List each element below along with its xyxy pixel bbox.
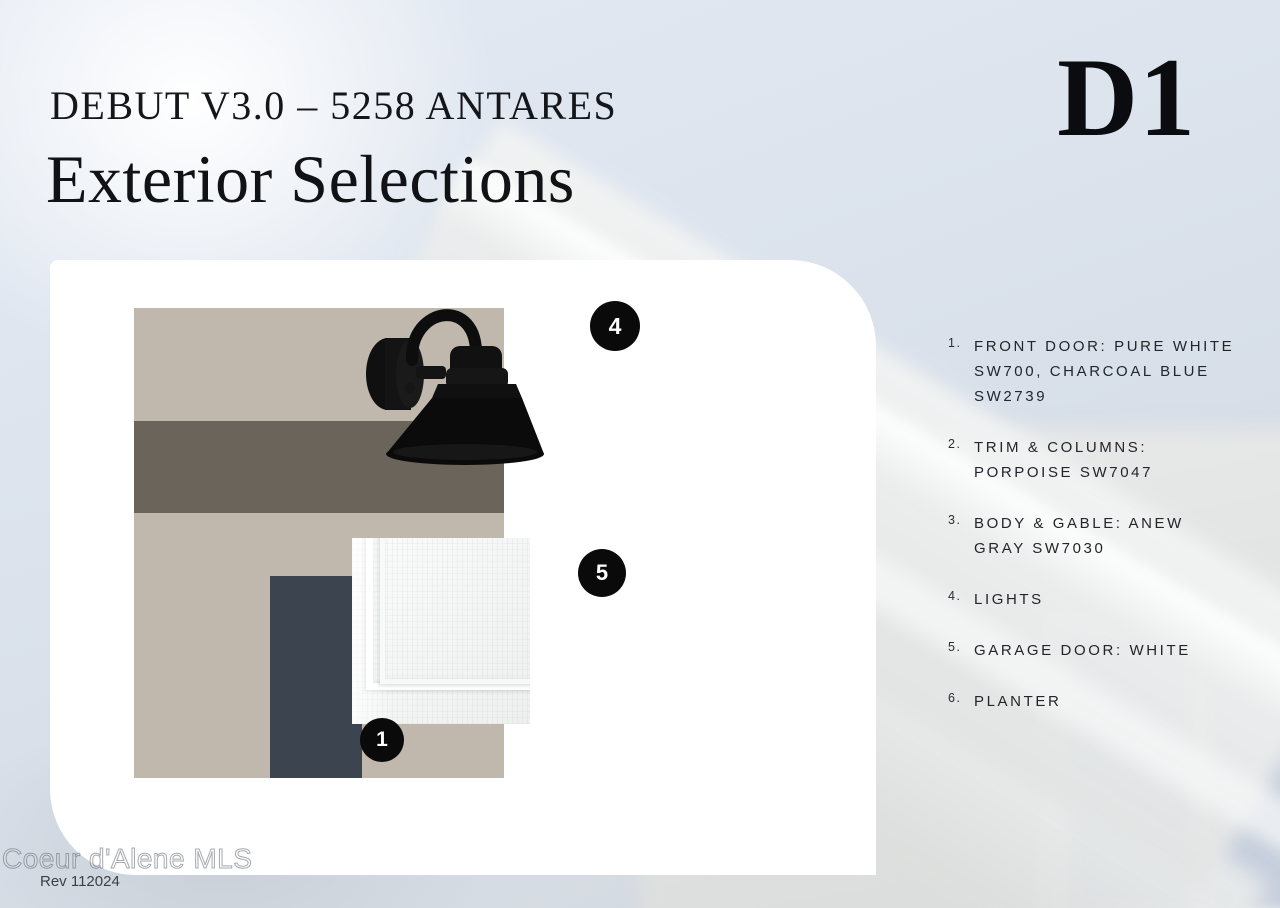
watermark: Coeur d'Alene MLS Rev 112024 — [2, 843, 252, 890]
panel-frame-inner — [380, 538, 530, 684]
legend-label: GARAGE DOOR: WHITE — [974, 638, 1191, 663]
legend-label: TRIM & COLUMNS: PORPOISE SW7047 — [974, 435, 1238, 485]
legend-number: 5. — [948, 638, 974, 663]
garage-door-swatch — [352, 538, 530, 724]
selections-card — [50, 260, 876, 875]
selections-legend: 1. FRONT DOOR: PURE WHITE SW700, CHARCOA… — [948, 334, 1238, 740]
badge-5[interactable]: 5 — [578, 549, 626, 597]
revision-label: Rev 112024 — [40, 873, 252, 890]
panel-highlight — [352, 538, 390, 724]
plan-subtitle: DEBUT V3.0 – 5258 ANTARES — [50, 82, 617, 129]
legend-item-5: 5. GARAGE DOOR: WHITE — [948, 638, 1238, 663]
legend-number: 4. — [948, 587, 974, 612]
wall-sconce-image — [330, 272, 580, 472]
legend-label: FRONT DOOR: PURE WHITE SW700, CHARCOAL B… — [974, 334, 1238, 409]
badge-1[interactable]: 1 — [360, 718, 404, 762]
legend-item-1: 1. FRONT DOOR: PURE WHITE SW700, CHARCOA… — [948, 334, 1238, 409]
watermark-source: Coeur d'Alene MLS — [2, 843, 252, 875]
plan-code-badge: D1 — [1057, 42, 1196, 154]
legend-number: 6. — [948, 689, 974, 714]
legend-number: 2. — [948, 435, 974, 485]
legend-item-4: 4. LIGHTS — [948, 587, 1238, 612]
swatch-front-door — [270, 576, 362, 778]
legend-label: BODY & GABLE: ANEW GRAY SW7030 — [974, 511, 1238, 561]
legend-item-6: 6. PLANTER — [948, 689, 1238, 714]
legend-number: 3. — [948, 511, 974, 561]
page-title: Exterior Selections — [46, 140, 575, 219]
legend-number: 1. — [948, 334, 974, 409]
badge-4[interactable]: 4 — [590, 301, 640, 351]
legend-item-3: 3. BODY & GABLE: ANEW GRAY SW7030 — [948, 511, 1238, 561]
legend-item-2: 2. TRIM & COLUMNS: PORPOISE SW7047 — [948, 435, 1238, 485]
legend-label: PLANTER — [974, 689, 1061, 714]
legend-label: LIGHTS — [974, 587, 1044, 612]
